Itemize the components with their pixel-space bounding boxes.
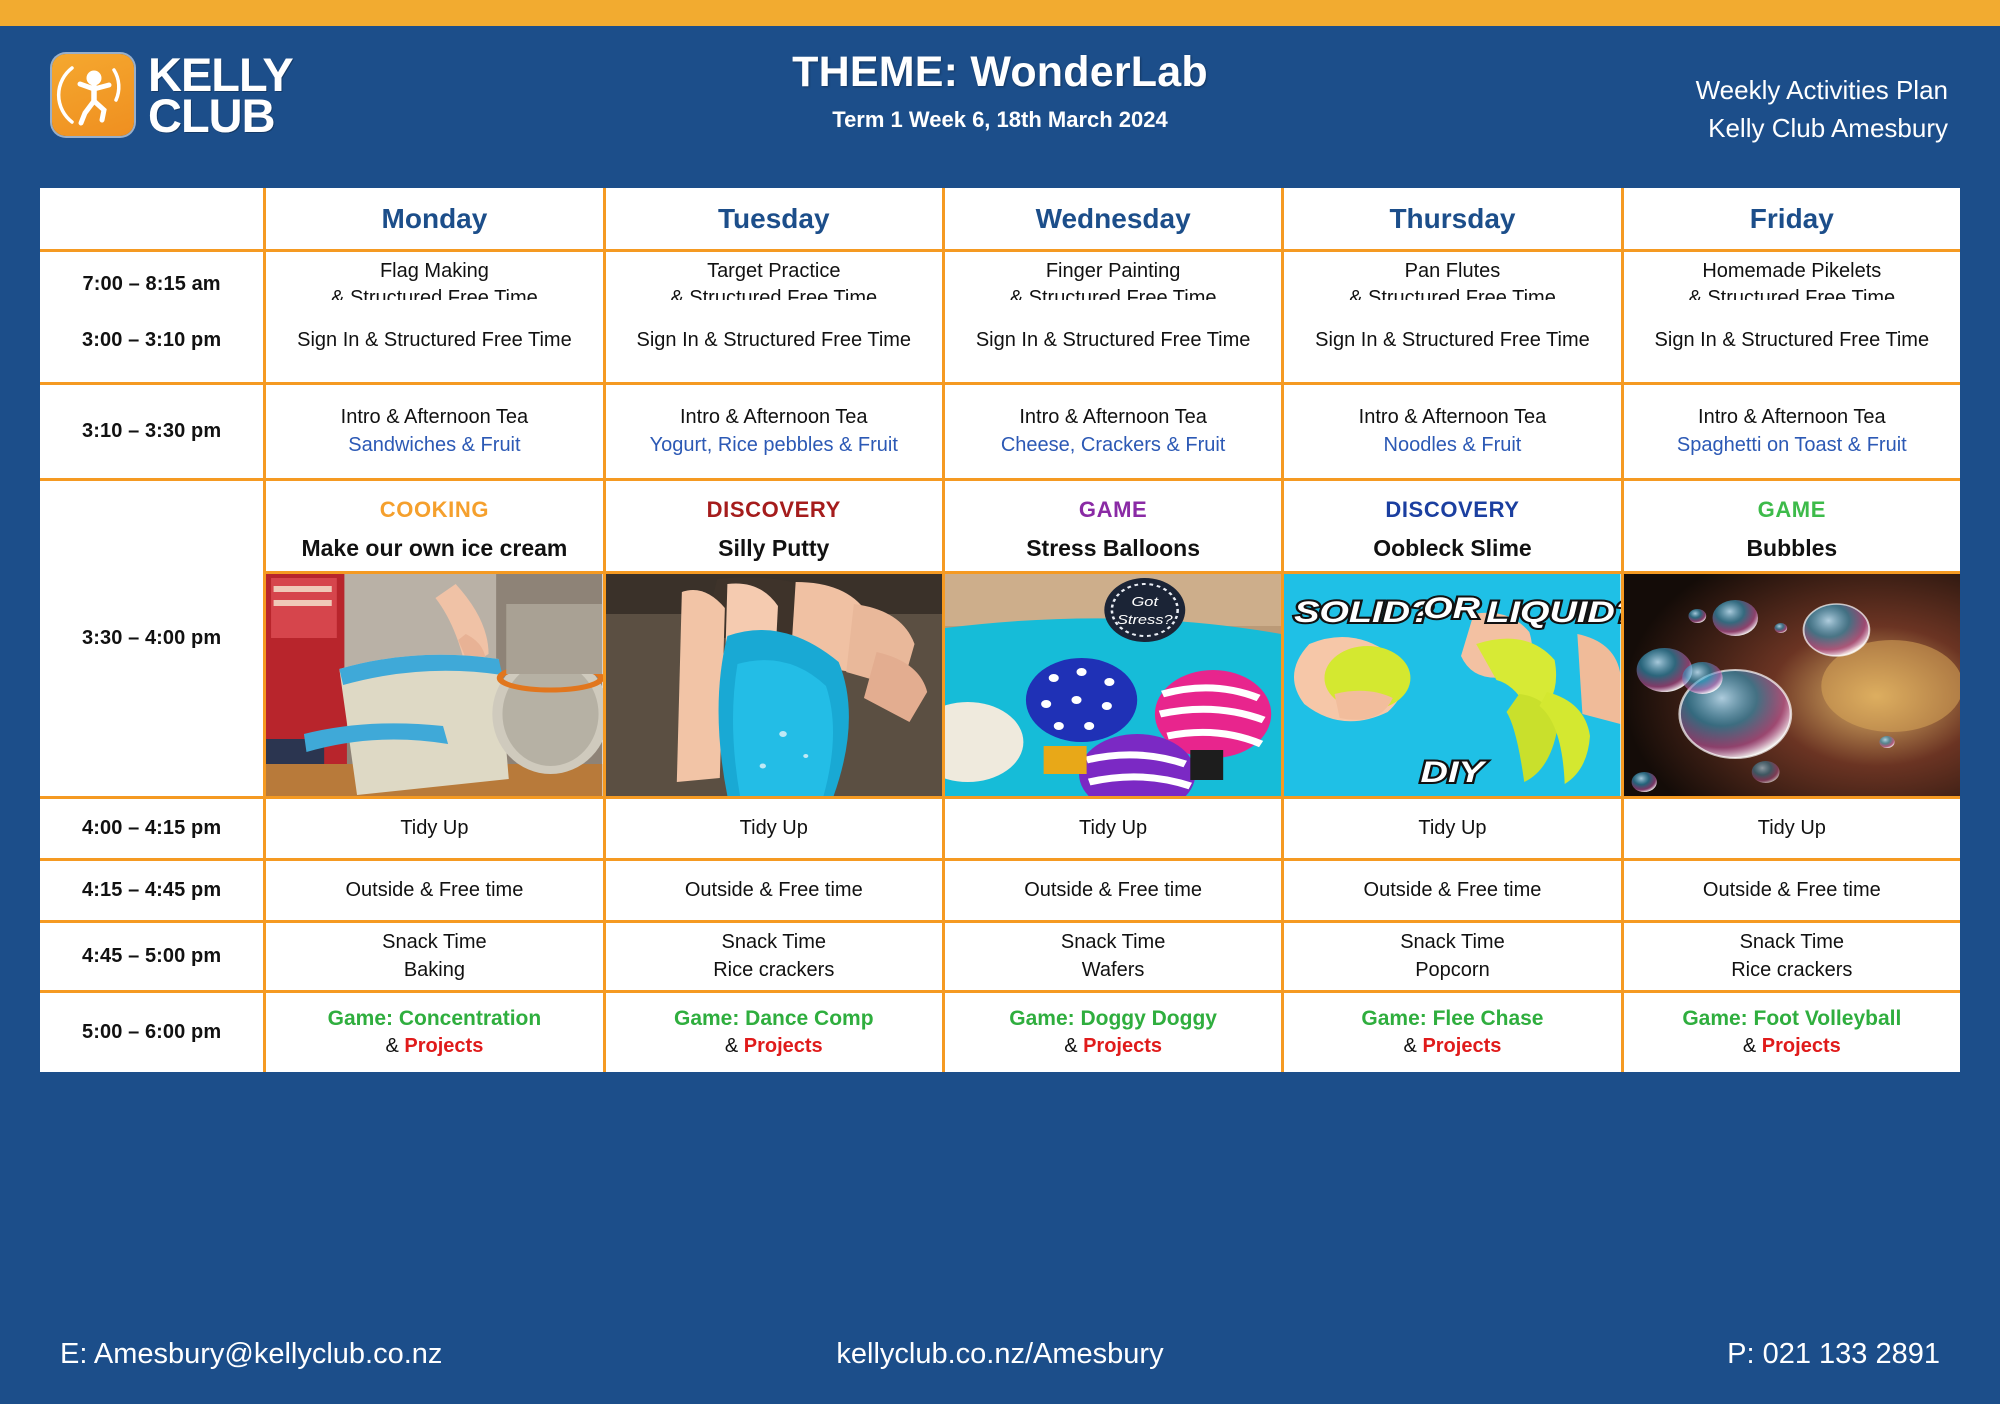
poster-header: KELLY CLUB THEME: WonderLab Term 1 Week …	[0, 26, 2000, 186]
table-row: 4:00 – 4:15 pm Tidy Up Tidy Up Tidy Up T…	[40, 796, 1960, 858]
activity-cell: Sign In & Structured Free Time	[942, 300, 1281, 382]
activity-cell: Outside & Free time	[603, 858, 942, 920]
snack-line-1: Snack Time	[1632, 929, 1952, 957]
snack-item: Wafers	[953, 957, 1273, 985]
snack-item: Popcorn	[1292, 957, 1612, 985]
activity-cell: Outside & Free time	[942, 858, 1281, 920]
tea-cell: Intro & Afternoon Tea Spaghetti on Toast…	[1621, 382, 1960, 478]
feature-activity-cell: COOKING Make our own ice cream	[263, 478, 602, 571]
svg-text:SOLID?: SOLID?	[1294, 596, 1433, 629]
solid-or-liquid-diy-photo: SOLID? OR LIQUID? DIY	[1281, 571, 1620, 796]
ampersand: &	[725, 1035, 744, 1057]
activity-cell: Sign In & Structured Free Time	[263, 300, 602, 382]
table-row: 3:30 – 4:00 pm COOKING Make our own ice …	[40, 478, 1960, 571]
tea-line-1: Intro & Afternoon Tea	[953, 404, 1273, 432]
activity-cell: Tidy Up	[263, 796, 602, 858]
activity-title: Bubbles	[1746, 535, 1837, 561]
snack-cell: Snack Time Wafers	[942, 920, 1281, 990]
game-label: Game: Dance Comp	[614, 1005, 934, 1034]
time-slot: 4:15 – 4:45 pm	[40, 858, 263, 920]
snack-line-1: Snack Time	[953, 929, 1273, 957]
time-slot: 4:00 – 4:15 pm	[40, 796, 263, 858]
activity-category-label: COOKING	[274, 495, 594, 525]
activity-photo-row: Got Stress?	[40, 571, 1960, 796]
projects-line: & Projects	[953, 1033, 1273, 1061]
activities-plan-poster: KELLY CLUB THEME: WonderLab Term 1 Week …	[0, 0, 2000, 1404]
projects-line: & Projects	[1632, 1033, 1952, 1061]
ampersand: &	[1404, 1035, 1423, 1057]
activity-category-label: GAME	[1632, 495, 1952, 525]
activity-line-1: Pan Flutes	[1292, 258, 1612, 286]
blue-silly-putty-photo	[603, 571, 942, 796]
activity-cell: Outside & Free time	[263, 858, 602, 920]
footer-website[interactable]: kellyclub.co.nz/Amesbury	[0, 1338, 2000, 1371]
tea-cell: Intro & Afternoon Tea Noodles & Fruit	[1281, 382, 1620, 478]
game-label: Game: Concentration	[274, 1005, 594, 1034]
footer-phone[interactable]: P: 021 133 2891	[1727, 1338, 1940, 1371]
activity-line-1: Finger Painting	[953, 258, 1273, 286]
tea-menu: Spaghetti on Toast & Fruit	[1632, 432, 1952, 460]
projects-label: Projects	[1083, 1035, 1162, 1057]
activity-line-1: Target Practice	[614, 258, 934, 286]
closing-cell: Game: Concentration & Projects	[263, 990, 602, 1072]
activity-title: Make our own ice cream	[301, 535, 567, 561]
day-header-monday: Monday	[263, 188, 602, 249]
afternoon-schedule-table: 3:00 – 3:10 pm Sign In & Structured Free…	[40, 300, 1960, 1072]
snack-line-1: Snack Time	[614, 929, 934, 957]
ampersand: &	[1064, 1035, 1083, 1057]
activity-line-1: Flag Making	[274, 258, 594, 286]
activity-category-label: DISCOVERY	[614, 495, 934, 525]
svg-text:DIY: DIY	[1421, 756, 1488, 789]
tea-menu: Cheese, Crackers & Fruit	[953, 432, 1273, 460]
feature-activity-cell: DISCOVERY Oobleck Slime	[1281, 478, 1620, 571]
activity-category-label: GAME	[953, 495, 1273, 525]
time-slot: 3:30 – 4:00 pm	[40, 478, 263, 796]
snack-cell: Snack Time Rice crackers	[603, 920, 942, 990]
soap-bubbles-photo	[1621, 571, 1960, 796]
activity-category-label: DISCOVERY	[1292, 495, 1612, 525]
ampersand: &	[1743, 1035, 1762, 1057]
tea-menu: Sandwiches & Fruit	[274, 432, 594, 460]
time-slot: 3:10 – 3:30 pm	[40, 382, 263, 478]
tea-line-1: Intro & Afternoon Tea	[614, 404, 934, 432]
snack-cell: Snack Time Rice crackers	[1621, 920, 1960, 990]
activity-cell: Tidy Up	[1281, 796, 1620, 858]
projects-line: & Projects	[274, 1033, 594, 1061]
tea-line-1: Intro & Afternoon Tea	[274, 404, 594, 432]
plan-identity: Weekly Activities Plan Kelly Club Amesbu…	[1696, 72, 1948, 147]
activity-title: Silly Putty	[718, 535, 829, 561]
closing-cell: Game: Foot Volleyball & Projects	[1621, 990, 1960, 1072]
day-header-friday: Friday	[1621, 188, 1960, 249]
svg-text:Got: Got	[1131, 596, 1158, 610]
activity-cell: Tidy Up	[942, 796, 1281, 858]
closing-cell: Game: Flee Chase & Projects	[1281, 990, 1620, 1072]
table-row: 3:10 – 3:30 pm Intro & Afternoon Tea San…	[40, 382, 1960, 478]
svg-text:LIQUID?: LIQUID?	[1487, 596, 1621, 629]
day-header-thursday: Thursday	[1281, 188, 1620, 249]
activity-cell: Outside & Free time	[1621, 858, 1960, 920]
day-header-wednesday: Wednesday	[942, 188, 1281, 249]
closing-cell: Game: Doggy Doggy & Projects	[942, 990, 1281, 1072]
poster-footer: E: Amesbury@kellyclub.co.nz kellyclub.co…	[0, 1304, 2000, 1404]
activity-cell: Sign In & Structured Free Time	[1281, 300, 1620, 382]
table-row: 4:15 – 4:45 pm Outside & Free time Outsi…	[40, 858, 1960, 920]
projects-label: Projects	[744, 1035, 823, 1057]
game-label: Game: Foot Volleyball	[1632, 1005, 1952, 1034]
ampersand: &	[386, 1035, 405, 1057]
stress-balloons-photo: Got Stress?	[942, 571, 1281, 796]
snack-line-1: Snack Time	[274, 929, 594, 957]
projects-label: Projects	[1422, 1035, 1501, 1057]
tea-menu: Yogurt, Rice pebbles & Fruit	[614, 432, 934, 460]
activity-cell: Tidy Up	[603, 796, 942, 858]
closing-cell: Game: Dance Comp & Projects	[603, 990, 942, 1072]
activity-title: Stress Balloons	[1026, 535, 1200, 561]
projects-label: Projects	[1762, 1035, 1841, 1057]
time-column-header	[40, 188, 263, 249]
tea-cell: Intro & Afternoon Tea Yogurt, Rice pebbl…	[603, 382, 942, 478]
club-name: Kelly Club Amesbury	[1696, 110, 1948, 148]
time-slot: 3:00 – 3:10 pm	[40, 300, 263, 382]
game-label: Game: Flee Chase	[1292, 1005, 1612, 1034]
tea-menu: Noodles & Fruit	[1292, 432, 1612, 460]
feature-activity-cell: DISCOVERY Silly Putty	[603, 478, 942, 571]
activity-cell: Sign In & Structured Free Time	[603, 300, 942, 382]
day-header-tuesday: Tuesday	[603, 188, 942, 249]
activity-title: Oobleck Slime	[1373, 535, 1532, 561]
projects-label: Projects	[404, 1035, 483, 1057]
activity-line-1: Homemade Pikelets	[1632, 258, 1952, 286]
feature-activity-cell: GAME Bubbles	[1621, 478, 1960, 571]
game-label: Game: Doggy Doggy	[953, 1005, 1273, 1034]
snack-cell: Snack Time Popcorn	[1281, 920, 1620, 990]
plan-title: Weekly Activities Plan	[1696, 72, 1948, 110]
top-accent-bar	[0, 0, 2000, 26]
table-row: 5:00 – 6:00 pm Game: Concentration & Pro…	[40, 990, 1960, 1072]
feature-activity-cell: GAME Stress Balloons	[942, 478, 1281, 571]
snack-line-1: Snack Time	[1292, 929, 1612, 957]
svg-text:Stress?: Stress?	[1117, 614, 1173, 628]
snack-item: Rice crackers	[1632, 957, 1952, 985]
snack-item: Rice crackers	[614, 957, 934, 985]
tea-cell: Intro & Afternoon Tea Sandwiches & Fruit	[263, 382, 602, 478]
day-header-row: Monday Tuesday Wednesday Thursday Friday	[40, 188, 1960, 249]
tea-cell: Intro & Afternoon Tea Cheese, Crackers &…	[942, 382, 1281, 478]
tea-line-1: Intro & Afternoon Tea	[1632, 404, 1952, 432]
time-slot: 5:00 – 6:00 pm	[40, 990, 263, 1072]
projects-line: & Projects	[614, 1033, 934, 1061]
projects-line: & Projects	[1292, 1033, 1612, 1061]
snack-item: Baking	[274, 957, 594, 985]
tea-line-1: Intro & Afternoon Tea	[1292, 404, 1612, 432]
ice-cream-bag-photo	[263, 571, 602, 796]
time-slot: 4:45 – 5:00 pm	[40, 920, 263, 990]
table-row: 4:45 – 5:00 pm Snack Time Baking Snack T…	[40, 920, 1960, 990]
snack-cell: Snack Time Baking	[263, 920, 602, 990]
activity-cell: Outside & Free time	[1281, 858, 1620, 920]
svg-text:OR: OR	[1423, 592, 1480, 625]
table-row: 3:00 – 3:10 pm Sign In & Structured Free…	[40, 300, 1960, 382]
activity-cell: Tidy Up	[1621, 796, 1960, 858]
activity-cell: Sign In & Structured Free Time	[1621, 300, 1960, 382]
